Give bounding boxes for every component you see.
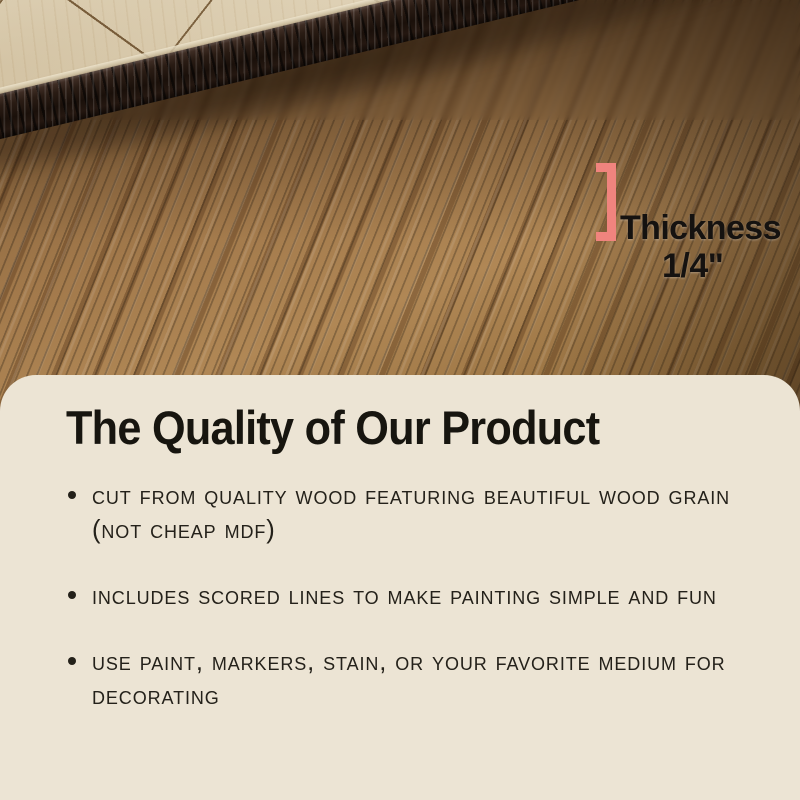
thickness-label: Thickness [620, 209, 781, 248]
panel-title: The Quality of Our Product [66, 403, 690, 453]
list-item: Cut from quality wood featuring beautifu… [66, 479, 744, 547]
thickness-bracket-icon [596, 163, 616, 241]
thickness-measurement: 1/4" [662, 247, 723, 286]
feature-bullet-list: Cut from quality wood featuring beautifu… [66, 479, 744, 714]
list-item: Includes scored lines to make painting s… [66, 579, 744, 613]
quality-info-panel: The Quality of Our Product Cut from qual… [0, 375, 800, 800]
list-item: Use paint, markers, stain, or your favor… [66, 645, 744, 713]
product-feature-image: Thickness 1/4" The Quality of Our Produc… [0, 0, 800, 800]
product-photo: Thickness 1/4" [0, 0, 800, 420]
